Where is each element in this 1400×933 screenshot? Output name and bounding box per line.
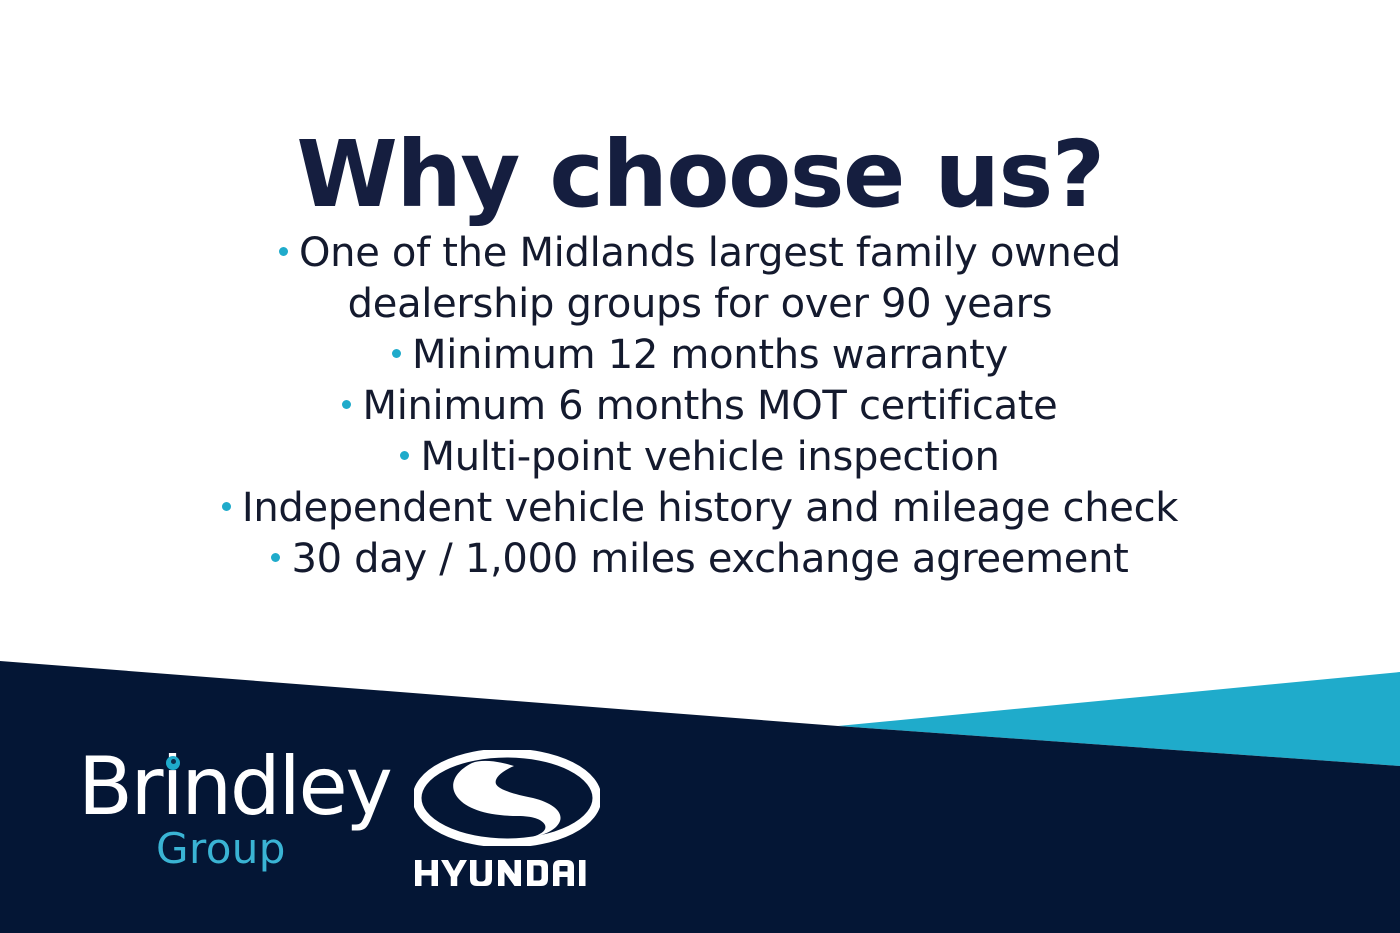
list-item-text: Minimum 6 months MOT certificate [362, 383, 1057, 429]
list-item-line: 30 day / 1,000 miles exchange agreement [0, 534, 1400, 585]
list-item: Independent vehicle history and mileage … [0, 483, 1400, 534]
teal-band [838, 672, 1400, 766]
bullet-dot-icon [271, 553, 280, 562]
list-item-text: Independent vehicle history and mileage … [242, 485, 1178, 531]
hyundai-wordmark [414, 858, 600, 888]
brindley-group-logo: Brindley Group [78, 742, 340, 882]
list-item-line: dealership groups for over 90 years [0, 279, 1400, 330]
list-item-line: Multi-point vehicle inspection [0, 432, 1400, 483]
list-item-line: One of the Midlands largest family owned [0, 228, 1400, 279]
list-item: One of the Midlands largest family owned… [0, 228, 1400, 330]
list-item: Multi-point vehicle inspection [0, 432, 1400, 483]
bullet-dot-icon [222, 502, 231, 511]
list-item-line: Minimum 12 months warranty [0, 330, 1400, 381]
list-item-text: 30 day / 1,000 miles exchange agreement [291, 536, 1128, 582]
bullet-dot-icon [279, 247, 288, 256]
page-title: Why choose us? [0, 124, 1400, 226]
bullet-dot-icon [342, 400, 351, 409]
list-item-text: One of the Midlands largest family owned [299, 230, 1121, 276]
list-item-text: dealership groups for over 90 years [348, 281, 1053, 327]
logo-lockup: Brindley Group [78, 742, 612, 890]
brindley-subtext: Group [156, 826, 286, 872]
slide-canvas: Why choose us? One of the Midlands large… [0, 0, 1400, 933]
brindley-accent-dot-icon [166, 756, 180, 770]
list-item-line: Minimum 6 months MOT certificate [0, 381, 1400, 432]
list-item: Minimum 12 months warranty [0, 330, 1400, 381]
list-item-line: Independent vehicle history and mileage … [0, 483, 1400, 534]
list-item: 30 day / 1,000 miles exchange agreement [0, 534, 1400, 585]
hyundai-logo: HYUNDAI [402, 742, 612, 890]
bullet-dot-icon [400, 451, 409, 460]
hyundai-wordmark-text: HYUNDAI [402, 888, 403, 889]
list-item-text: Multi-point vehicle inspection [420, 434, 999, 480]
brindley-wordmark: Brindley [78, 746, 391, 828]
hyundai-emblem-icon [414, 750, 600, 846]
list-item: Minimum 6 months MOT certificate [0, 381, 1400, 432]
benefits-list: One of the Midlands largest family owned… [0, 228, 1400, 585]
bullet-dot-icon [392, 349, 401, 358]
list-item-text: Minimum 12 months warranty [412, 332, 1008, 378]
